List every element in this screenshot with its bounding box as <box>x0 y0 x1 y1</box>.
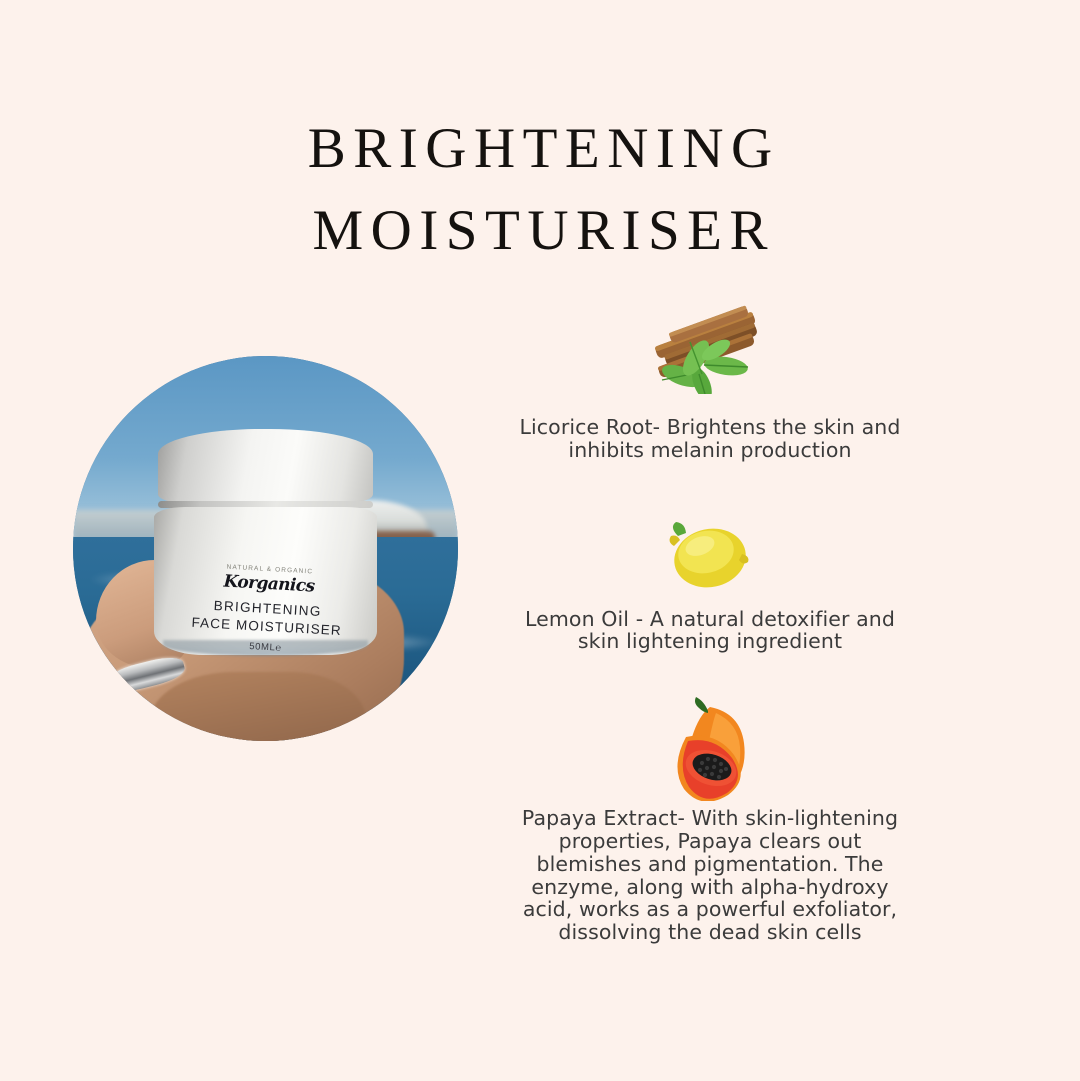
title-line-2: MOISTURISER <box>0 190 1080 272</box>
jar-body: NATURAL & ORGANIC Korganics BRIGHTENING … <box>154 507 377 655</box>
ingredient-list: Licorice Root- Brightens the skin and in… <box>500 300 920 944</box>
lemon-icon <box>500 512 920 598</box>
ingredient-description: Lemon Oil - A natural detoxifier and ski… <box>500 608 920 654</box>
jar-lid <box>158 429 372 503</box>
papaya-icon <box>500 695 920 803</box>
ingredient-item: Licorice Root- Brightens the skin and in… <box>500 300 920 462</box>
ingredient-item: Papaya Extract- With skin-lightening pro… <box>500 695 920 944</box>
product-jar: NATURAL & ORGANIC Korganics BRIGHTENING … <box>154 429 377 668</box>
product-photo: NATURAL & ORGANIC Korganics BRIGHTENING … <box>73 356 458 741</box>
page-title: BRIGHTENING MOISTURISER <box>0 108 1080 272</box>
jar-label: NATURAL & ORGANIC Korganics BRIGHTENING … <box>183 561 353 657</box>
title-line-1: BRIGHTENING <box>0 108 1080 190</box>
ingredient-description: Licorice Root- Brightens the skin and in… <box>500 416 920 462</box>
lower-fingers <box>150 672 366 741</box>
licorice-root-icon <box>500 300 920 396</box>
ingredient-item: Lemon Oil - A natural detoxifier and ski… <box>500 512 920 654</box>
ingredient-description: Papaya Extract- With skin-lightening pro… <box>500 807 920 944</box>
